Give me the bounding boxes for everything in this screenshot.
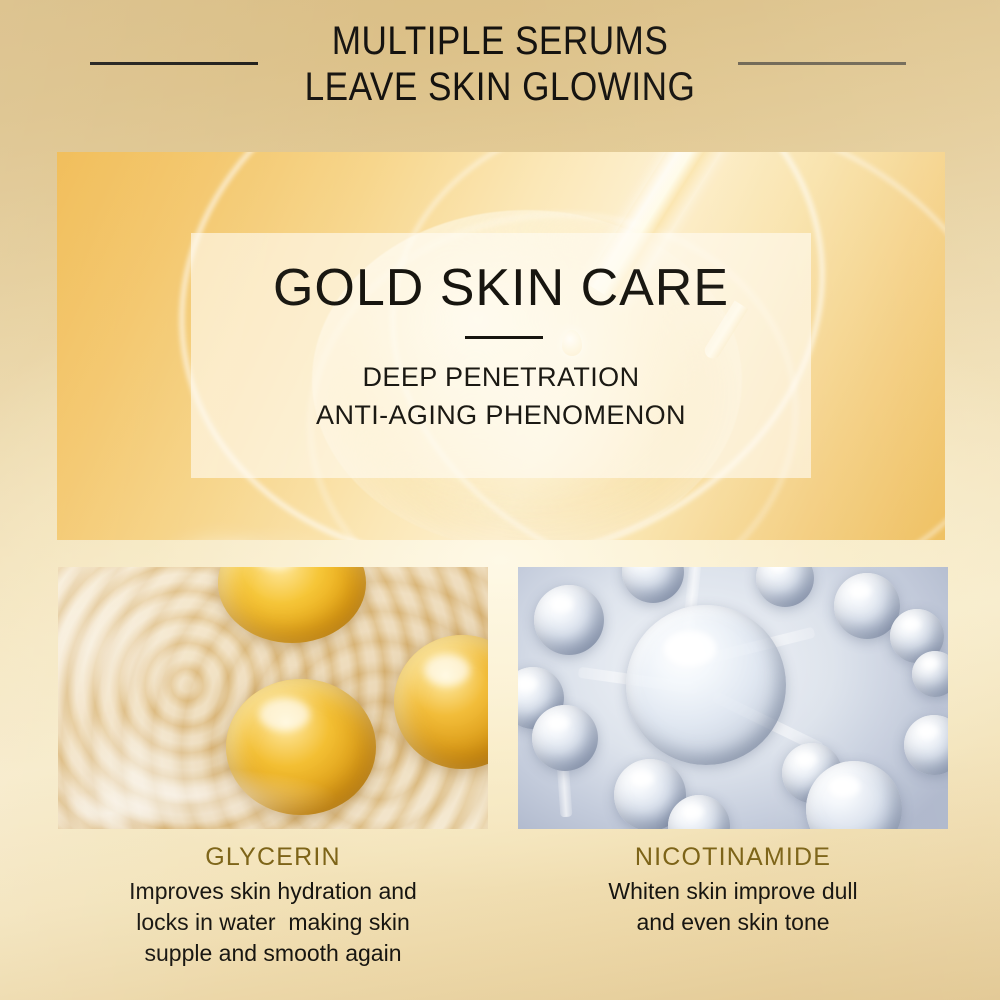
molecule-sphere: [912, 651, 948, 697]
infographic-page: MULTIPLE SERUMS LEAVE SKIN GLOWING GOLD …: [0, 0, 1000, 1000]
hero-banner: GOLD SKIN CARE DEEP PENETRATION ANTI-AGI…: [57, 152, 945, 540]
hero-subtitle-line-1: DEEP PENETRATION: [191, 358, 811, 396]
molecule-sphere: [904, 715, 948, 775]
nicotinamide-desc-line-1: Whiten skin improve dull: [518, 876, 948, 907]
glycerin-title: GLYCERIN: [58, 843, 488, 872]
glycerin-photo: [58, 567, 488, 829]
nicotinamide-title: NICOTINAMIDE: [518, 843, 948, 872]
hero-glow-bubble: [167, 524, 377, 540]
molecule-sphere: [534, 585, 604, 655]
page-title: MULTIPLE SERUMS LEAVE SKIN GLOWING: [60, 18, 940, 110]
glycerin-desc-line-1: Improves skin hydration and: [58, 876, 488, 907]
molecule-sphere: [622, 567, 684, 603]
serum-droplet-blob: [394, 635, 488, 769]
serum-droplet-blob: [226, 679, 376, 815]
ingredient-card-nicotinamide: NICOTINAMIDE Whiten skin improve dull an…: [518, 567, 948, 938]
header: MULTIPLE SERUMS LEAVE SKIN GLOWING: [0, 0, 1000, 130]
hero-heading: GOLD SKIN CARE: [191, 259, 811, 317]
hero-divider: [465, 336, 543, 339]
serum-droplet-blob: [218, 567, 366, 643]
hero-subtitle: DEEP PENETRATION ANTI-AGING PHENOMENON: [191, 358, 811, 434]
molecule-sphere-main: [626, 605, 786, 765]
page-title-line-2: LEAVE SKIN GLOWING: [60, 64, 940, 110]
glycerin-desc-line-2: locks in water making skin: [58, 907, 488, 938]
molecule-sphere: [532, 705, 598, 771]
nicotinamide-photo: [518, 567, 948, 829]
glycerin-description: Improves skin hydration and locks in wat…: [58, 876, 488, 969]
molecule-sphere: [756, 567, 814, 607]
nicotinamide-desc-line-2: and even skin tone: [518, 907, 948, 938]
ingredient-card-glycerin: GLYCERIN Improves skin hydration and loc…: [58, 567, 488, 969]
glycerin-desc-line-3: supple and smooth again: [58, 938, 488, 969]
nicotinamide-description: Whiten skin improve dull and even skin t…: [518, 876, 948, 938]
page-title-line-1: MULTIPLE SERUMS: [60, 18, 940, 64]
hero-subtitle-line-2: ANTI-AGING PHENOMENON: [191, 396, 811, 434]
hero-text-panel: GOLD SKIN CARE DEEP PENETRATION ANTI-AGI…: [191, 233, 811, 478]
